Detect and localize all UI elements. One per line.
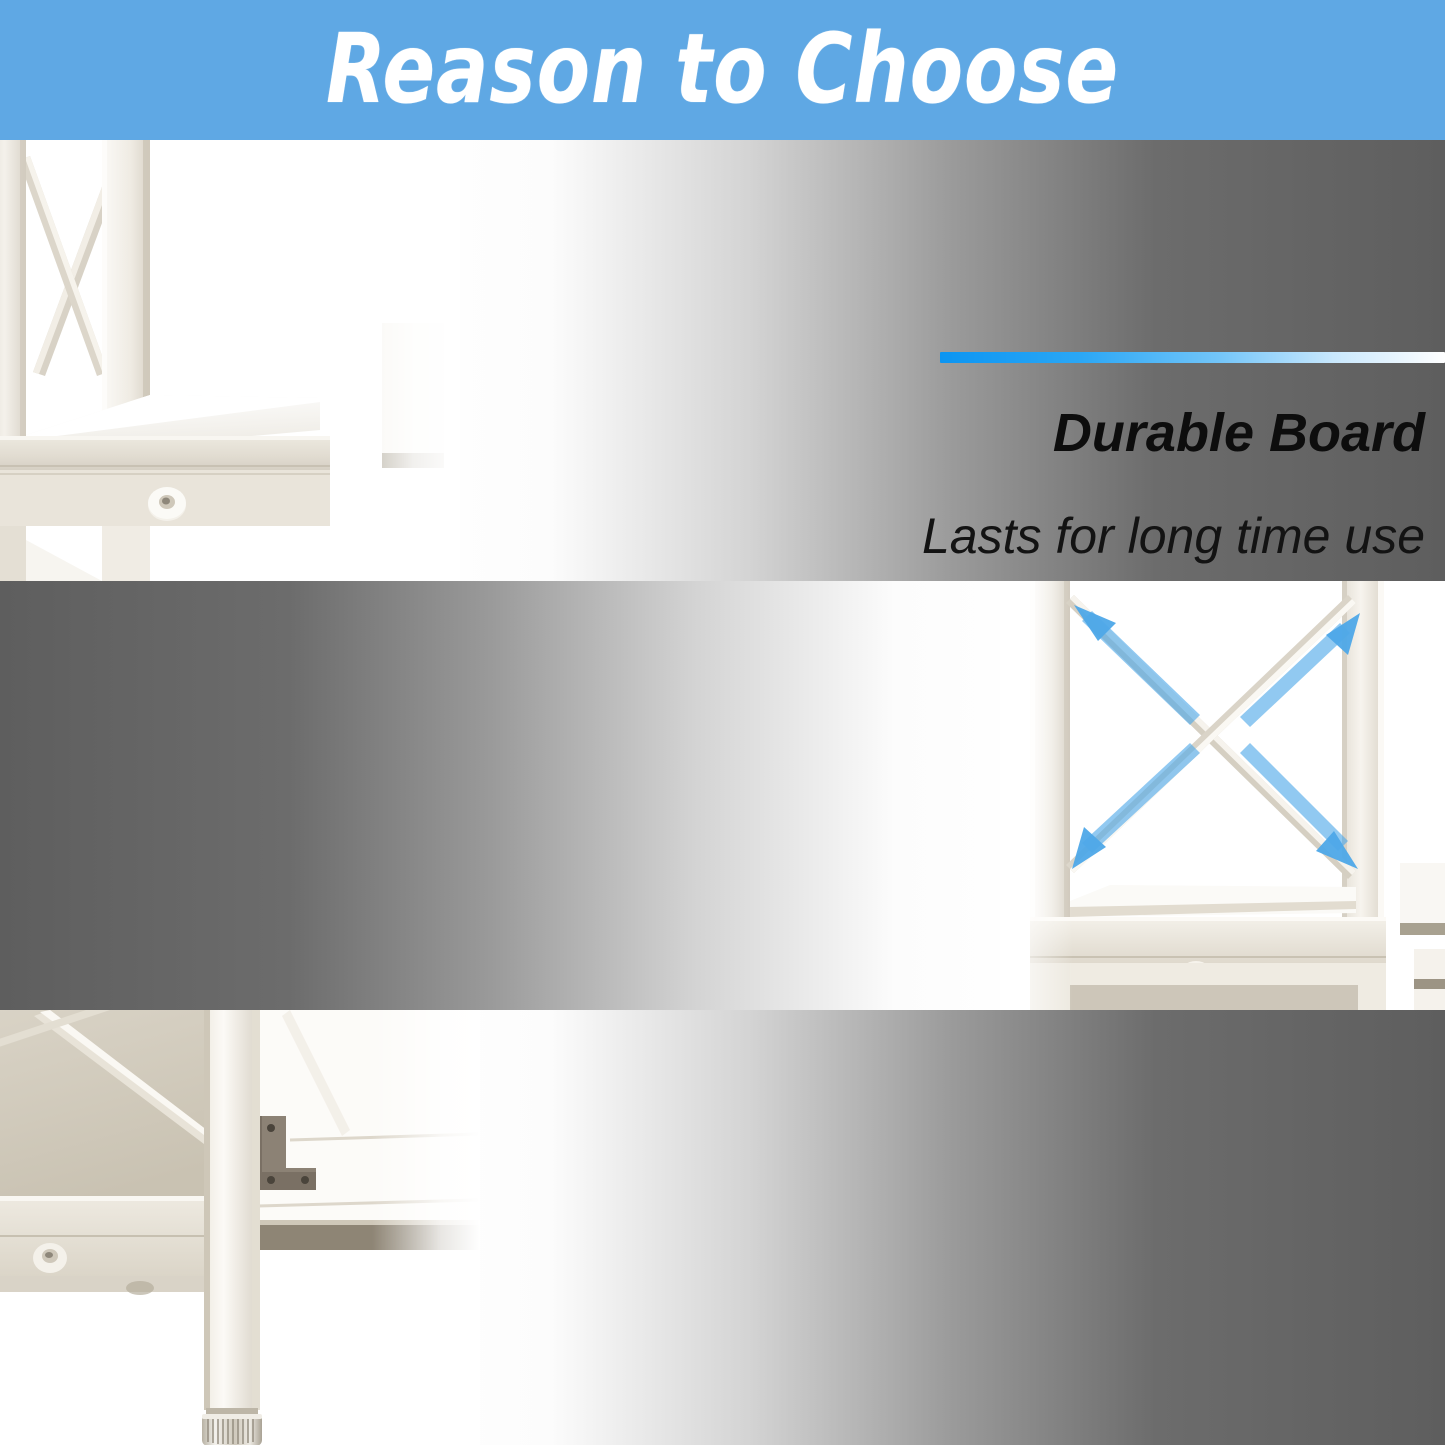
- accent-bar-1: [940, 352, 1445, 363]
- feature-panel-adjustable-feet: Adjustable feet Fit uneven ground: [0, 1010, 1445, 1445]
- feature-text-durable-board: Durable Board Lasts for long time use: [0, 402, 1425, 566]
- product-photo-adjustable-foot: [0, 1010, 480, 1445]
- feature-subtext: Lasts for long time use: [0, 506, 1425, 566]
- page-title: Reason to Choose: [72, 14, 1373, 124]
- feature-panel-side-x-bar: Side "X" bar Avoid books falling: [0, 581, 1445, 1010]
- product-photo-x-bar: [1000, 581, 1445, 1010]
- feature-heading: Durable Board: [0, 402, 1425, 464]
- feature-panel-durable-board: Durable Board Lasts for long time use 0.…: [0, 140, 1445, 581]
- infographic-page: Reason to Choose: [0, 0, 1445, 1445]
- header-banner: Reason to Choose: [0, 0, 1445, 140]
